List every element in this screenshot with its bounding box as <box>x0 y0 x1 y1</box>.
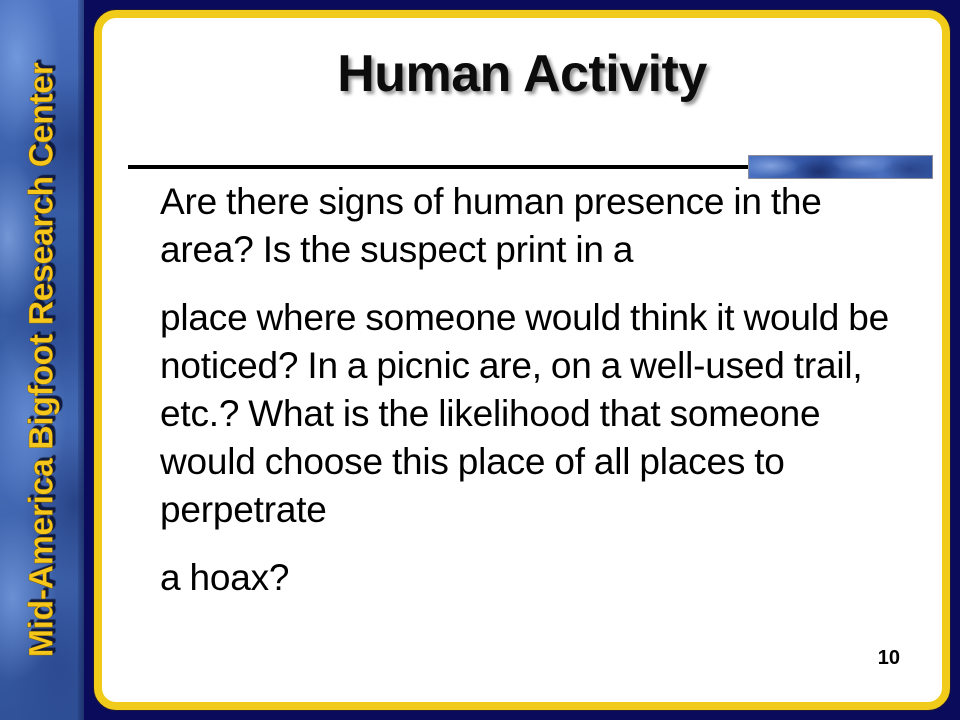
title-divider <box>128 155 918 179</box>
body-paragraph: a hoax? <box>160 554 920 602</box>
content-panel: Human Activity Are there signs of human … <box>94 10 950 710</box>
divider-blue-cap <box>748 155 933 179</box>
sidebar-panel: Mid-America Bigfoot Research Center <box>0 0 84 720</box>
divider-line <box>128 165 748 169</box>
page-number: 10 <box>878 647 900 670</box>
body-paragraph: place where someone would think it would… <box>160 294 920 534</box>
body-paragraph: Are there signs of human presence in the… <box>160 178 920 274</box>
page-title: Human Activity <box>102 44 942 104</box>
sidebar-branding-title: Mid-America Bigfoot Research Center <box>23 63 62 658</box>
slide-root: Mid-America Bigfoot Research Center Huma… <box>0 0 960 720</box>
body-text-block: Are there signs of human presence in the… <box>160 178 920 602</box>
